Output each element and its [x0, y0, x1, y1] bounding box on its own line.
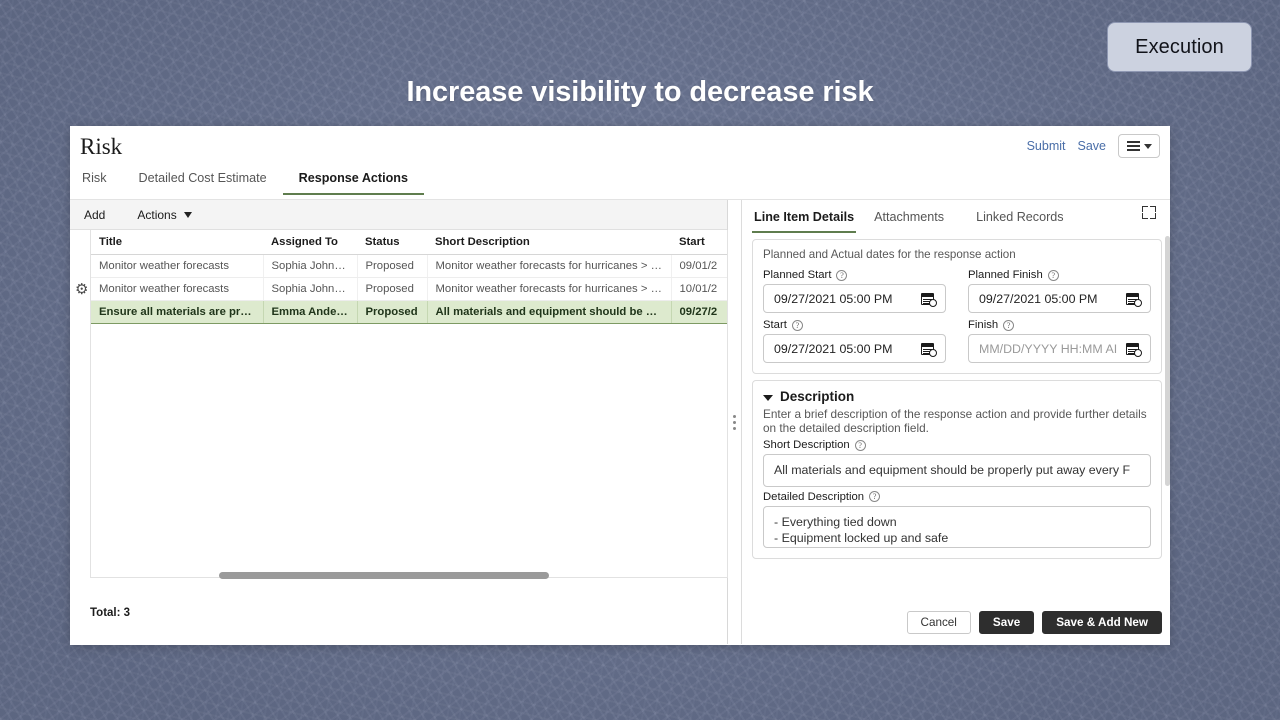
- submit-button[interactable]: Submit: [1027, 139, 1066, 153]
- cell-start: 09/01/2: [671, 255, 728, 278]
- grid-pane: Add Actions ⚙ Title Assigned To Status S…: [70, 200, 728, 644]
- pane-splitter[interactable]: [728, 200, 742, 644]
- detail-tabbar: Line Item Details Attachments Linked Rec…: [752, 200, 1162, 233]
- cell-short-description: Monitor weather forecasts for hurricanes…: [427, 255, 671, 278]
- save-button[interactable]: Save: [979, 611, 1034, 634]
- detailed-description-input[interactable]: - Everything tied down - Equipment locke…: [763, 506, 1151, 548]
- planned-start-value: 09/27/2021 05:00 PM: [774, 292, 893, 306]
- cell-title: Ensure all materials are proper...: [91, 301, 263, 324]
- tab-linked-records[interactable]: Linked Records: [974, 208, 1078, 231]
- table-row-selected[interactable]: Ensure all materials are proper... Emma …: [91, 301, 728, 324]
- expand-icon[interactable]: [1142, 206, 1156, 219]
- gear-icon[interactable]: ⚙: [75, 282, 90, 297]
- start-label: Start ?: [763, 319, 946, 331]
- column-header-short-description[interactable]: Short Description: [427, 230, 671, 255]
- finish-placeholder: MM/DD/YYYY HH:MM AI: [979, 342, 1117, 356]
- detail-pane: Line Item Details Attachments Linked Rec…: [742, 200, 1170, 644]
- help-circle-icon[interactable]: ?: [869, 491, 880, 502]
- cell-assigned-to: Sophia Johnson: [263, 255, 357, 278]
- planned-finish-value: 09/27/2021 05:00 PM: [979, 292, 1098, 306]
- cell-assigned-to: Emma Anderson: [263, 301, 357, 324]
- planned-start-label: Planned Start ?: [763, 269, 946, 281]
- cell-title: Monitor weather forecasts: [91, 255, 263, 278]
- response-actions-grid[interactable]: Title Assigned To Status Short Descripti…: [90, 230, 728, 578]
- short-description-label: Short Description ?: [763, 439, 1151, 451]
- save-link-button[interactable]: Save: [1078, 139, 1107, 153]
- app-header: Risk Submit Save: [70, 126, 1170, 168]
- table-header-row: Title Assigned To Status Short Descripti…: [91, 230, 728, 255]
- dates-card: Planned and Actual dates for the respons…: [752, 239, 1162, 374]
- cell-status: Proposed: [357, 301, 427, 324]
- main-tabbar: Risk Detailed Cost Estimate Response Act…: [70, 168, 1170, 200]
- start-value: 09/27/2021 05:00 PM: [774, 342, 893, 356]
- tab-attachments[interactable]: Attachments: [872, 208, 958, 231]
- grid-horizontal-scrollbar[interactable]: [91, 570, 727, 581]
- page-title: Risk: [80, 134, 1170, 160]
- start-input[interactable]: 09/27/2021 05:00 PM: [763, 334, 946, 363]
- cancel-button[interactable]: Cancel: [907, 611, 971, 634]
- cell-title: Monitor weather forecasts: [91, 278, 263, 301]
- help-circle-icon[interactable]: ?: [1003, 320, 1014, 331]
- description-card: Description Enter a brief description of…: [752, 380, 1162, 559]
- actions-menu-button[interactable]: Actions: [137, 208, 191, 222]
- detailed-description-label: Detailed Description ?: [763, 491, 1151, 503]
- short-description-input[interactable]: All materials and equipment should be pr…: [763, 454, 1151, 487]
- column-header-start[interactable]: Start: [671, 230, 728, 255]
- help-circle-icon[interactable]: ?: [855, 440, 866, 451]
- cell-start: 10/01/2: [671, 278, 728, 301]
- caret-down-icon: [184, 212, 192, 218]
- description-section-header[interactable]: Description: [763, 389, 1151, 404]
- cell-short-description: All materials and equipment should be pr…: [427, 301, 671, 324]
- calendar-clock-icon[interactable]: [921, 291, 937, 307]
- add-button[interactable]: Add: [84, 208, 105, 222]
- calendar-clock-icon[interactable]: [1126, 341, 1142, 357]
- hamburger-icon: [1127, 141, 1140, 151]
- help-circle-icon[interactable]: ?: [836, 270, 847, 281]
- body-split: Add Actions ⚙ Title Assigned To Status S…: [70, 200, 1170, 644]
- calendar-clock-icon[interactable]: [921, 341, 937, 357]
- help-circle-icon[interactable]: ?: [792, 320, 803, 331]
- cell-short-description: Monitor weather forecasts for hurricanes…: [427, 278, 671, 301]
- description-section-title: Description: [780, 389, 854, 404]
- finish-label: Finish ?: [968, 319, 1151, 331]
- overflow-menu-button[interactable]: [1118, 134, 1160, 158]
- dates-card-note: Planned and Actual dates for the respons…: [763, 248, 1151, 261]
- slide-headline: Increase visibility to decrease risk: [0, 76, 1280, 109]
- finish-input[interactable]: MM/DD/YYYY HH:MM AI: [968, 334, 1151, 363]
- column-header-assigned-to[interactable]: Assigned To: [263, 230, 357, 255]
- cell-status: Proposed: [357, 255, 427, 278]
- cell-assigned-to: Sophia Johnson: [263, 278, 357, 301]
- total-count-label: Total: 3: [90, 607, 130, 619]
- detail-footer-actions: Cancel Save Save & Add New: [907, 611, 1162, 634]
- detail-vertical-scrollbar[interactable]: [1165, 236, 1170, 636]
- scrollbar-thumb[interactable]: [219, 572, 549, 579]
- tab-line-item-details[interactable]: Line Item Details: [752, 208, 856, 233]
- column-header-title[interactable]: Title: [91, 230, 263, 255]
- column-header-status[interactable]: Status: [357, 230, 427, 255]
- table-row[interactable]: Monitor weather forecasts Sophia Johnson…: [91, 278, 728, 301]
- add-button-label: Add: [84, 208, 105, 222]
- save-and-add-new-button[interactable]: Save & Add New: [1042, 611, 1162, 634]
- table-row[interactable]: Monitor weather forecasts Sophia Johnson…: [91, 255, 728, 278]
- help-circle-icon[interactable]: ?: [1048, 270, 1059, 281]
- scrollbar-thumb[interactable]: [1165, 236, 1170, 486]
- grid-toolbar: Add Actions: [70, 200, 727, 230]
- cell-start: 09/27/2: [671, 301, 728, 324]
- header-actions: Submit Save: [1027, 134, 1160, 158]
- cell-status: Proposed: [357, 278, 427, 301]
- chevron-down-icon: [1144, 144, 1152, 149]
- planned-start-input[interactable]: 09/27/2021 05:00 PM: [763, 284, 946, 313]
- tab-response-actions[interactable]: Response Actions: [283, 168, 424, 195]
- tab-detailed-cost-estimate[interactable]: Detailed Cost Estimate: [123, 168, 283, 193]
- application-window: Risk Submit Save Risk Detailed Cost Esti…: [70, 126, 1170, 645]
- chevron-down-icon: [763, 395, 773, 401]
- planned-finish-input[interactable]: 09/27/2021 05:00 PM: [968, 284, 1151, 313]
- phase-badge: Execution: [1107, 22, 1252, 72]
- drag-handle-icon: [733, 415, 736, 430]
- planned-finish-label: Planned Finish ?: [968, 269, 1151, 281]
- description-section-help: Enter a brief description of the respons…: [763, 407, 1151, 435]
- actions-button-label: Actions: [137, 208, 176, 222]
- calendar-clock-icon[interactable]: [1126, 291, 1142, 307]
- tab-risk[interactable]: Risk: [80, 168, 123, 193]
